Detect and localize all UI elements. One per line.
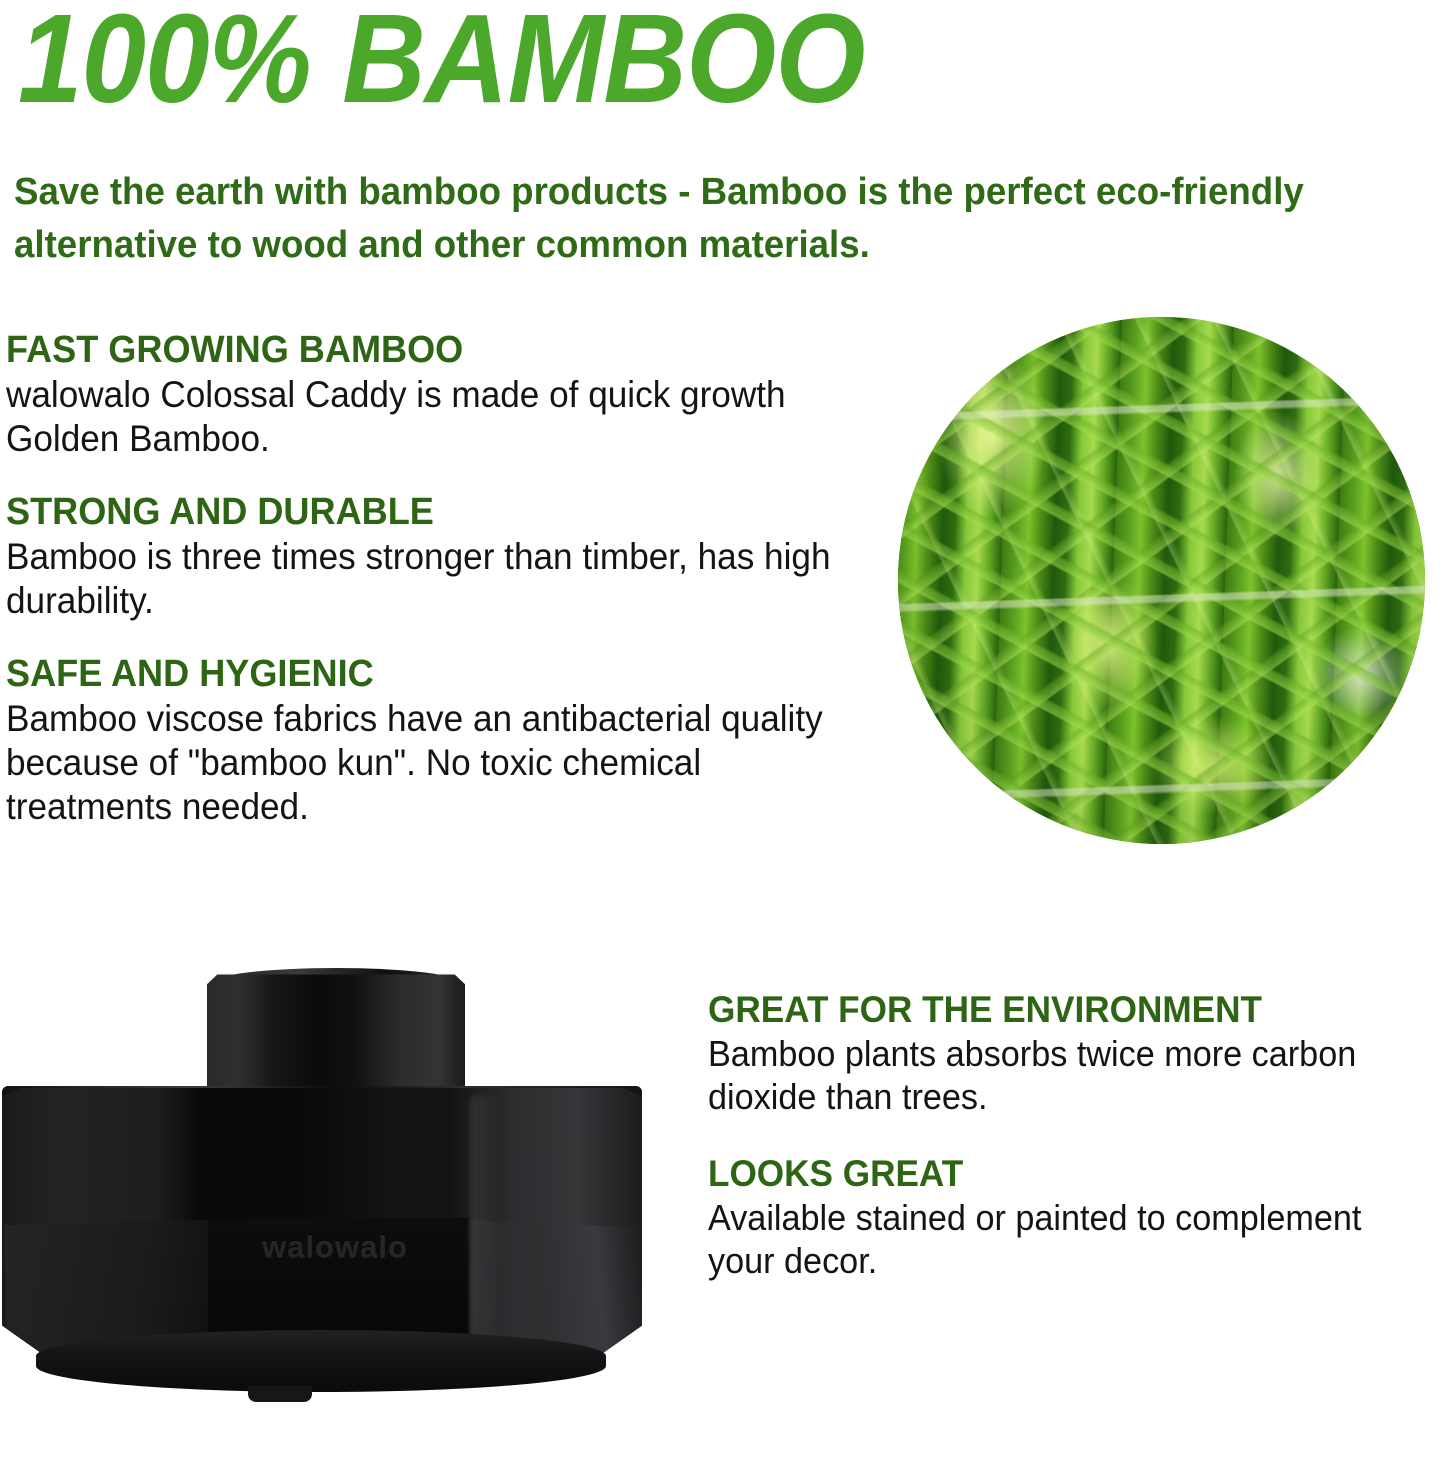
feature-heading: SAFE AND HYGIENIC xyxy=(6,654,861,695)
caddy-body xyxy=(2,1088,642,1358)
bamboo-vignette-layer xyxy=(898,317,1425,844)
feature-body: Bamboo plants absorbs twice more carbon … xyxy=(708,1032,1402,1118)
feature-body: Bamboo is three times stronger than timb… xyxy=(6,535,861,624)
page-title: 100% BAMBOO xyxy=(18,0,1122,122)
subtitle-text: Save the earth with bamboo products - Ba… xyxy=(14,166,1388,272)
caddy-foot xyxy=(248,1386,312,1402)
feature-block-strong-durable: STRONG AND DURABLE Bamboo is three times… xyxy=(6,492,906,624)
caddy-embossed-logo: walowalo xyxy=(232,1230,438,1264)
infographic-canvas: 100% BAMBOO Save the earth with bamboo p… xyxy=(0,0,1445,1406)
features-left-column: FAST GROWING BAMBOO walowalo Colossal Ca… xyxy=(6,330,906,830)
bamboo-grove-photo xyxy=(898,317,1425,844)
feature-heading: GREAT FOR THE ENVIRONMENT xyxy=(708,990,1402,1030)
feature-block-safe-hygienic: SAFE AND HYGIENIC Bamboo viscose fabrics… xyxy=(6,654,906,830)
features-right-column: GREAT FOR THE ENVIRONMENT Bamboo plants … xyxy=(708,990,1438,1319)
feature-body: Bamboo viscose fabrics have an antibacte… xyxy=(6,697,861,830)
feature-heading: FAST GROWING BAMBOO xyxy=(6,330,861,371)
feature-heading: STRONG AND DURABLE xyxy=(6,492,861,533)
feature-body: Available stained or painted to compleme… xyxy=(708,1196,1402,1282)
caddy-base-plate xyxy=(36,1330,606,1392)
feature-body: walowalo Colossal Caddy is made of quick… xyxy=(6,373,861,462)
black-bamboo-caddy-photo: walowalo xyxy=(0,962,648,1406)
feature-block-environment: GREAT FOR THE ENVIRONMENT Bamboo plants … xyxy=(708,990,1438,1118)
feature-block-looks-great: LOOKS GREAT Available stained or painted… xyxy=(708,1154,1438,1282)
caddy-handle-column xyxy=(207,972,465,1094)
caddy-highlight xyxy=(470,1096,500,1346)
feature-heading: LOOKS GREAT xyxy=(708,1154,1402,1194)
feature-block-fast-growing: FAST GROWING BAMBOO walowalo Colossal Ca… xyxy=(6,330,906,462)
